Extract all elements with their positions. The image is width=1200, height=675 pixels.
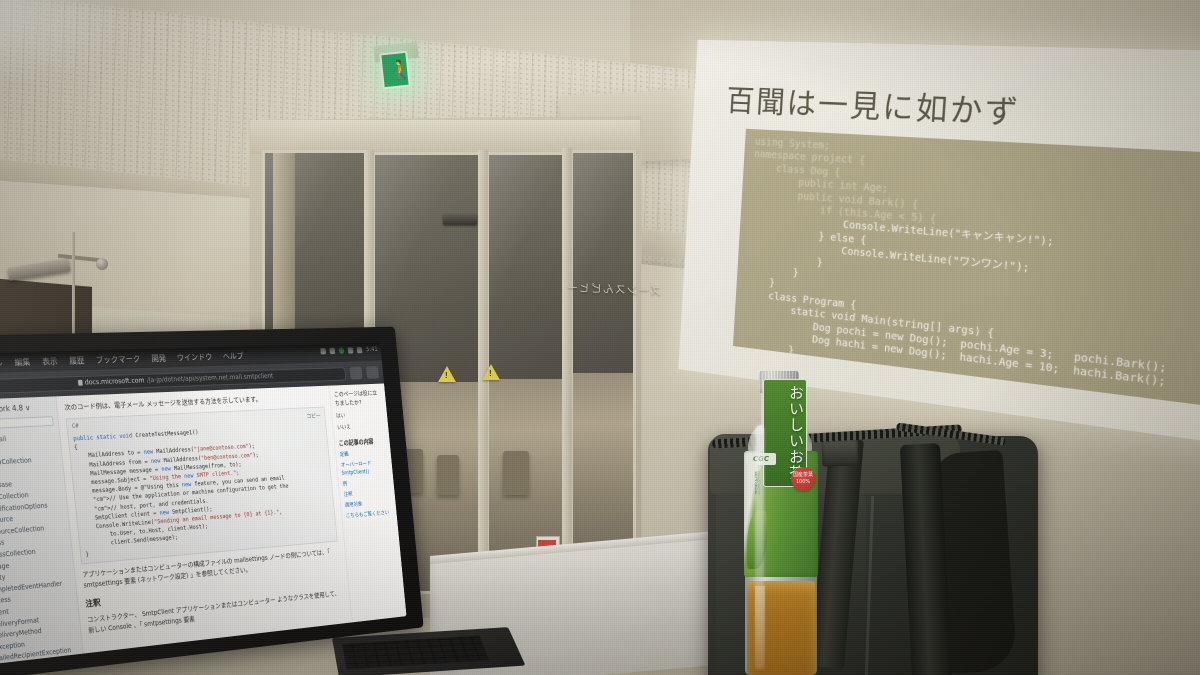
- docs-code-sample: C# コピー public static void CreateTestMess…: [66, 407, 338, 565]
- door-sensor: [443, 214, 477, 225]
- toc-list[interactable]: 定義オーバーロードSmtpClient()例注釈適用対象こちらもご覧ください: [339, 447, 393, 519]
- toc-item[interactable]: こちらもご覧ください: [345, 508, 393, 520]
- bottle-badge: 国産茶葉100%: [791, 467, 815, 491]
- door-header: [250, 120, 640, 154]
- menubar-status-tray[interactable]: 5:41: [320, 346, 378, 355]
- menu-file[interactable]: ファイル: [0, 357, 3, 370]
- feedback-yes[interactable]: はい: [336, 409, 384, 419]
- menu-develop[interactable]: 開発: [151, 352, 167, 364]
- laptop-display: ● ファイル 編集 表示 履歴 ブックマーク 開発 ウインドウ ヘルプ: [0, 343, 407, 666]
- share-button-icon[interactable]: [349, 367, 362, 380]
- menu-bookmarks[interactable]: ブックマーク: [95, 353, 141, 366]
- docs-version-selector[interactable]: .NET Framework 4.8 ∨: [0, 402, 52, 415]
- glass-sheen-4: [573, 153, 633, 577]
- feedback-question: このページは役に立ちましたか?: [334, 389, 383, 408]
- code-sample-body: public static void CreateTestMessage1(){…: [73, 422, 333, 559]
- menu-window[interactable]: ウインドウ: [176, 351, 212, 363]
- ceiling-light-glow: [0, 0, 130, 98]
- tabs-button-icon[interactable]: [366, 366, 379, 379]
- running-person-icon: 🚶: [388, 58, 406, 84]
- wifi-icon[interactable]: [320, 347, 326, 353]
- glass-door-panel-4[interactable]: [570, 150, 636, 580]
- toc-item[interactable]: 定義: [339, 447, 387, 458]
- laptop-lid: ● ファイル 編集 表示 履歴 ブックマーク 開発 ウインドウ ヘルプ: [0, 327, 424, 675]
- door-closer-hinge: [96, 258, 108, 270]
- lock-icon: [77, 380, 82, 386]
- url-host: docs.microsoft.com: [84, 377, 144, 387]
- bottle-specular-highlight: [755, 425, 764, 669]
- toc-item[interactable]: 適用対象: [344, 497, 392, 509]
- exit-sign: 🚶: [379, 51, 411, 90]
- tea-bottle[interactable]: おいしいお茶 CGC 緑茶飲料 国産茶葉100%: [735, 371, 827, 675]
- glass-door-text: ズーンスんピヒー: [566, 279, 662, 298]
- toc-item[interactable]: オーバーロード: [340, 458, 388, 469]
- web-page: .NET Framework 4.8 ∨ System.Net.MailAlte…: [0, 383, 407, 666]
- volume-icon[interactable]: [348, 347, 354, 353]
- status-dot-icon[interactable]: [339, 347, 345, 353]
- battery-icon[interactable]: [357, 346, 363, 352]
- menu-edit[interactable]: 編集: [14, 356, 31, 368]
- laptop[interactable]: ● ファイル 編集 表示 履歴 ブックマーク 開発 ウインドウ ヘルプ: [0, 338, 560, 675]
- docs-filter-input[interactable]: [0, 416, 54, 431]
- url-path: /ja-jp/dotnet/api/system.net.mail.smtpcl…: [147, 372, 274, 384]
- backpack-buckle: [822, 439, 859, 466]
- toc-item[interactable]: 例: [342, 476, 390, 487]
- bluetooth-icon[interactable]: [330, 347, 336, 353]
- docs-main-content: 次のコード例は、電子メール メッセージを送信する方法を示しています。 C# コピ…: [56, 386, 352, 654]
- menu-view[interactable]: 表示: [42, 355, 59, 367]
- code-language-label: C#: [72, 423, 80, 432]
- menu-help[interactable]: ヘルプ: [222, 350, 244, 362]
- toc-heading: この記事の内容: [338, 436, 386, 448]
- menu-history[interactable]: 履歴: [69, 354, 85, 366]
- copy-button[interactable]: コピー: [306, 411, 321, 420]
- feedback-no[interactable]: いいえ: [337, 421, 385, 431]
- menubar-clock[interactable]: 5:41: [366, 346, 378, 353]
- photo-scene: 🚶: [0, 0, 1200, 675]
- door-mullion-3: [562, 148, 572, 588]
- toc-item[interactable]: 注釈: [343, 486, 391, 497]
- toc-item[interactable]: SmtpClient(): [341, 468, 389, 476]
